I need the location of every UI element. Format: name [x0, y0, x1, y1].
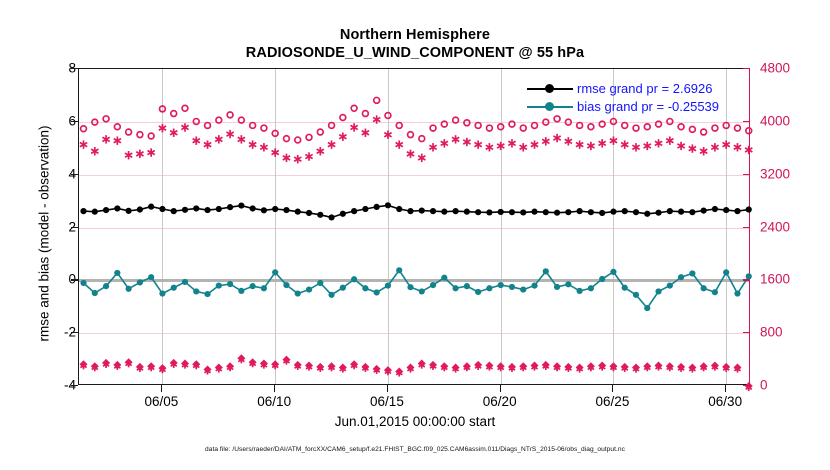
series-0 — [80, 202, 751, 220]
y-tick-mark-right — [743, 68, 750, 69]
y-tick-mark-right — [743, 279, 750, 280]
legend-marker-icon — [545, 84, 554, 93]
series-3 — [80, 115, 753, 163]
y-tick-mark-left — [71, 121, 78, 122]
y-tick-mark-left — [71, 279, 78, 280]
x-axis-label: Jun.01,2015 00:00:00 start — [0, 414, 830, 429]
series-4 — [80, 354, 753, 391]
y-tick-mark-right — [743, 385, 750, 386]
chart-title-line2: RADIOSONDE_U_WIND_COMPONENT @ 55 hPa — [0, 44, 830, 63]
x-tick-mark — [612, 385, 613, 392]
x-tick-mark — [274, 385, 275, 392]
chart-root: Northern Hemisphere RADIOSONDE_U_WIND_CO… — [0, 0, 830, 470]
x-tick-mark — [500, 385, 501, 392]
x-tick-label: 06/05 — [145, 394, 179, 409]
y-tick-mark-right — [743, 227, 750, 228]
y-tick-mark-left — [71, 227, 78, 228]
x-tick-label: 06/20 — [483, 394, 517, 409]
x-tick-label: 06/30 — [708, 394, 742, 409]
y-tick-mark-right — [743, 174, 750, 175]
y-tick-label-right: 800 — [760, 325, 783, 340]
x-tick-mark — [161, 385, 162, 392]
x-tick-label: 06/15 — [370, 394, 404, 409]
legend-item-0[interactable]: rmse grand pr = 2.6926 — [525, 80, 740, 98]
y-tick-mark-left — [71, 332, 78, 333]
series-layer — [79, 69, 751, 386]
legend-marker-icon — [545, 102, 554, 111]
data-file-footer: data file: /Users/raeder/DAI/ATM_forcXX/… — [0, 446, 830, 453]
series-1 — [80, 267, 751, 311]
legend-item-1[interactable]: bias grand pr = -0.25539 — [525, 98, 740, 116]
x-tick-label: 06/25 — [596, 394, 630, 409]
y-tick-label-right: 3200 — [760, 166, 790, 181]
y-tick-label-right: 0 — [760, 378, 768, 393]
y-tick-mark-left — [71, 174, 78, 175]
legend-label: rmse grand pr = 2.6926 — [577, 80, 713, 98]
chart-title-block: Northern Hemisphere RADIOSONDE_U_WIND_CO… — [0, 26, 830, 63]
y-tick-label-right: 2400 — [760, 219, 790, 234]
y-tick-mark-right — [743, 121, 750, 122]
legend-label: bias grand pr = -0.25539 — [577, 98, 719, 116]
y-axis-left-label: rmse and bias (model - observation) — [37, 84, 52, 384]
y-tick-mark-left — [71, 68, 78, 69]
chart-legend: rmse grand pr = 2.6926bias grand pr = -0… — [525, 80, 740, 116]
y-tick-label-right: 4800 — [760, 61, 790, 76]
y-tick-label-right: 4000 — [760, 113, 790, 128]
chart-title-line1: Northern Hemisphere — [0, 26, 830, 44]
y-tick-mark-left — [71, 385, 78, 386]
x-tick-mark — [725, 385, 726, 392]
y-tick-label-right: 1600 — [760, 272, 790, 287]
y-tick-mark-right — [743, 332, 750, 333]
x-tick-label: 06/10 — [257, 394, 291, 409]
x-tick-mark — [387, 385, 388, 392]
